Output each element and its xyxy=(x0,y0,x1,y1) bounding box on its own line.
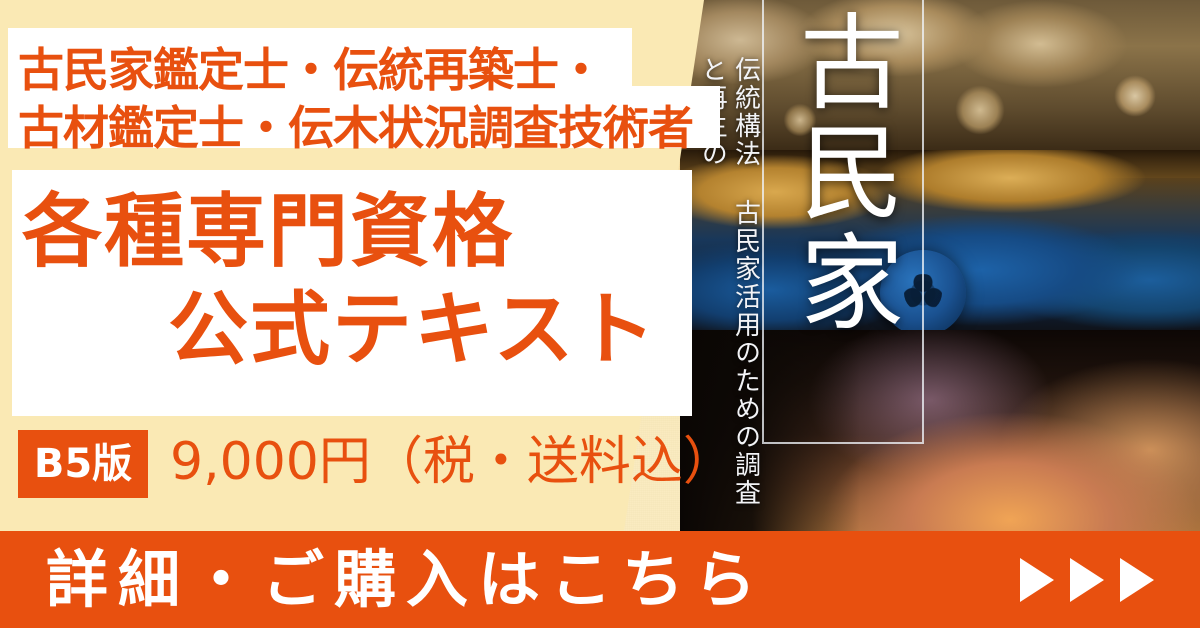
price-text: 9,000円（税・送料込） xyxy=(170,436,735,488)
cover-title-text: 古民家 xyxy=(784,8,896,338)
format-badge-label: B5版 xyxy=(34,444,132,484)
cta-label[interactable]: 詳細・ご購入はこちら xyxy=(46,549,766,611)
cta-bar[interactable]: 詳細・ご購入はこちら xyxy=(0,531,1200,628)
main-title-line-2: 公式テキスト xyxy=(168,290,658,370)
triangle-right-icon xyxy=(1070,558,1104,602)
triangle-right-icon xyxy=(1120,558,1154,602)
cta-arrow-group xyxy=(1020,558,1154,602)
main-title-line-1: 各種専門資格 xyxy=(22,192,514,272)
headline-line-2: 古材鑑定士・伝木状況調査技術者 xyxy=(18,92,693,158)
headline-line-1: 古民家鑑定士・伝統再築士・ xyxy=(18,34,603,100)
promo-banner: 古民家 伝統構法 古民家活用のための調査と再生の 古民家鑑定士・伝統再築士・ 古… xyxy=(0,0,1200,628)
format-badge: B5版 xyxy=(18,430,148,498)
book-cover-image: 古民家 伝統構法 古民家活用のための調査と再生の xyxy=(680,0,1200,531)
triangle-right-icon xyxy=(1020,558,1054,602)
